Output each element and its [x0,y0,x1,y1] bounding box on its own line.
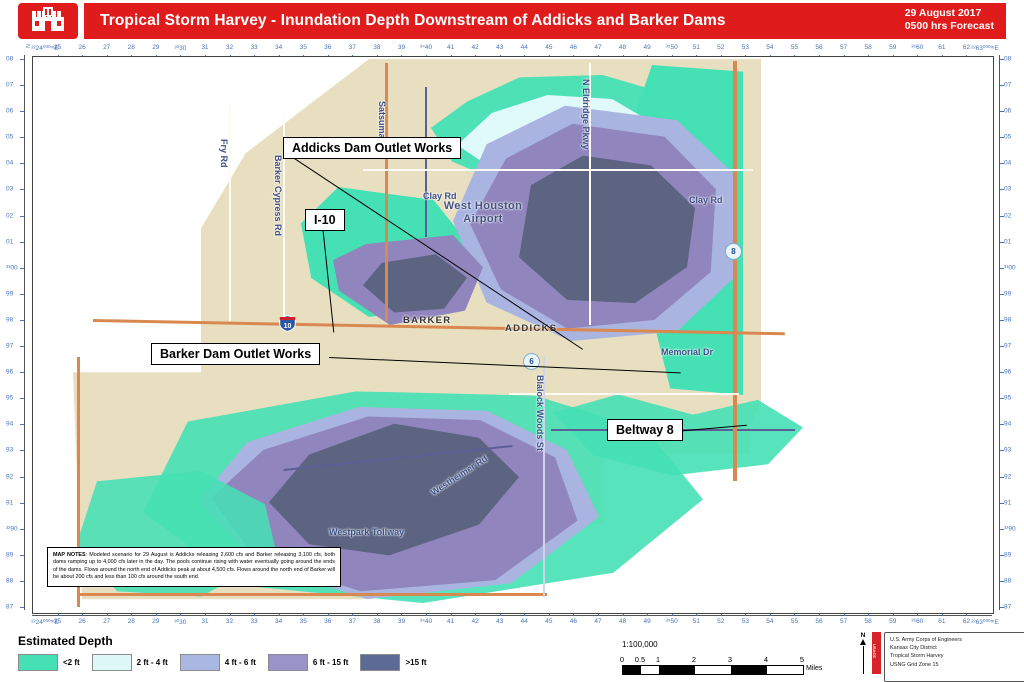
label-barker-cypress-rd: Barker Cypress Rd [273,155,283,236]
grid-tick-label: 58 [865,618,872,625]
grid-tick-mark [20,424,24,425]
grid-tick-label: 38 [373,618,380,625]
grid-tick-label: 27 [103,44,110,51]
grid-tick-label: 05 [1004,134,1011,141]
grid-tick-label: 56 [815,618,822,625]
grid-tick-label: 93 [1004,447,1011,454]
grid-tick-label: 07 [1004,82,1011,89]
grid-tick-label: ³²90 [6,525,18,532]
grid-tick-label: 51 [693,618,700,625]
north-arrow-label: N [861,632,866,639]
grid-tick-label: 33 [250,618,257,625]
grid-tick-mark [20,555,24,556]
grid-tick-mark [20,137,24,138]
usace-castle-logo [18,3,78,39]
scale-tick: 4 [764,655,768,664]
grid-tick-label: ³⁰30 [174,618,186,626]
grid-tick-label: 26 [79,618,86,625]
legend-swatch [360,654,400,671]
grid-tick-label: 46 [570,44,577,51]
grid-tick-label: 92 [6,473,13,480]
map-canvas[interactable]: Fry Rd Barker Cypress Rd Satsuma Rd N El… [33,57,993,613]
legend: <2 ft2 ft - 4 ft4 ft - 6 ft6 ft - 15 ft>… [18,654,439,671]
svg-text:10: 10 [284,323,292,330]
grid-tick-label: 41 [447,44,454,51]
grid-tick-label: ³⁵50 [666,44,678,51]
callout-barker-dam-outlet-works[interactable]: Barker Dam Outlet Works [151,343,320,365]
grid-tick-label: 36 [324,618,331,625]
grid-tick-mark [1000,268,1004,269]
callout-beltway8[interactable]: Beltway 8 [607,419,683,441]
grid-tick-label: 92 [1004,473,1011,480]
grid-tick-label: 28 [128,618,135,625]
legend-label: 4 ft - 6 ft [225,658,256,667]
grid-tick-label: 57 [840,44,847,51]
forecast-hour: 0500 hrs Forecast [905,20,994,33]
grid-tick-mark [1000,372,1004,373]
grid-tick-label: ²²63⁰⁰⁰ᵐE [971,618,998,626]
map-notes-heading: MAP NOTES [53,552,86,558]
grid-tick-mark [1000,477,1004,478]
legend-swatch [18,654,58,671]
grid-tick-label: 26 [79,44,86,51]
grid-tick-label: ³³00 [6,264,18,271]
grid-tick-mark [1000,189,1004,190]
road-beltway8 [733,61,737,481]
credit-agency: U.S. Army Corps of Engineers [890,636,1022,644]
grid-tick-label: 25 [54,618,61,625]
grid-tick-label: 34 [275,44,282,51]
grid-tick-label: 03 [1004,186,1011,193]
grid-tick-label: 44 [521,618,528,625]
legend-label: 2 ft - 4 ft [137,658,168,667]
grid-tick-label: 43 [496,44,503,51]
grid-tick-label: 96 [1004,369,1011,376]
grid-tick-label: 51 [693,44,700,51]
grid-tick-label: 45 [545,618,552,625]
grid-tick-label: 56 [815,44,822,51]
legend-item: 2 ft - 4 ft [92,654,168,671]
grid-ruler-left: 0807060504030201³³00999897969594939291³²… [0,55,26,615]
north-arrow-icon: N [856,632,870,674]
grid-tick-label: ³⁶60 [911,44,923,51]
grid-ruler-bottom: ²²24⁰⁰⁰ᵐE2526272829³⁰3031323334353637383… [0,612,1024,632]
grid-tick-label: 87 [6,604,13,611]
grid-tick-label: 45 [545,44,552,51]
grid-tick-label: 99 [1004,290,1011,297]
grid-tick-mark [1000,398,1004,399]
grid-tick-label: 25 [54,44,61,51]
grid-tick-label: 98 [6,316,13,323]
grid-corner-label-tl: N [24,44,30,48]
grid-tick-label: 98 [1004,316,1011,323]
grid-tick-label: 58 [865,44,872,51]
label-fry-rd: Fry Rd [219,139,229,168]
map-notes-box: MAP NOTES: Modeled scenario for 29 Augus… [47,547,341,587]
grid-tick-label: 62 [963,44,970,51]
grid-tick-label: 35 [300,44,307,51]
grid-tick-label: 53 [742,44,749,51]
grid-tick-label: 59 [889,618,896,625]
grid-tick-label: 32 [226,618,233,625]
scale-tick-labels: 00.512345 [622,655,822,665]
forecast-datetime: 29 August 2017 0500 hrs Forecast [905,7,994,33]
grid-tick-label: 88 [1004,577,1011,584]
grid-tick-mark [20,477,24,478]
grid-tick-label: 53 [742,618,749,625]
grid-tick-mark [1000,320,1004,321]
grid-tick-label: ³⁵50 [666,618,678,625]
grid-tick-label: 31 [201,618,208,625]
map-viewport[interactable]: Fry Rd Barker Cypress Rd Satsuma Rd N El… [32,56,994,614]
grid-tick-label: 39 [398,618,405,625]
shield-i10-icon: 10 [279,315,296,332]
grid-tick-label: 97 [6,343,13,350]
grid-tick-mark [1000,607,1004,608]
grid-tick-mark [1000,294,1004,295]
scale-ratio: 1:100,000 [622,640,822,649]
map-notes-body: : Modeled scenario for 29 August is Addi… [53,552,335,580]
grid-tick-label: 33 [250,44,257,51]
legend-item: <2 ft [18,654,80,671]
callout-i10[interactable]: I-10 [305,209,345,231]
grid-tick-mark [20,189,24,190]
grid-tick-label: ³³00 [1004,264,1016,271]
header-title-bar: Tropical Storm Harvey - Inundation Depth… [84,3,1006,39]
label-memorial-dr: Memorial Dr [661,347,713,357]
grid-tick-label: 96 [6,369,13,376]
usace-bar-text: USACE [872,632,877,658]
grid-tick-mark [20,450,24,451]
grid-tick-mark [1000,137,1004,138]
grid-tick-label: 46 [570,618,577,625]
scale-tick: 0 [620,655,624,664]
scale-tick: 2 [692,655,696,664]
grid-tick-label: 04 [1004,160,1011,167]
grid-tick-mark [1000,216,1004,217]
road-westpark-tollway [77,593,547,596]
grid-tick-label: 27 [103,618,110,625]
grid-tick-mark [20,320,24,321]
grid-tick-mark [1000,424,1004,425]
grid-tick-label: 54 [766,44,773,51]
grid-tick-label: 55 [791,618,798,625]
grid-tick-label: 02 [6,212,13,219]
grid-tick-label: ³⁶60 [911,618,923,625]
grid-tick-label: 62 [963,618,970,625]
grid-tick-label: 37 [349,44,356,51]
callout-addicks-dam-outlet-works[interactable]: Addicks Dam Outlet Works [283,137,461,159]
grid-tick-label: 93 [6,447,13,454]
shield-beltway8-icon: 8 [725,243,742,260]
page-header: Tropical Storm Harvey - Inundation Depth… [0,0,1024,40]
grid-tick-label: 34 [275,618,282,625]
grid-tick-label: 29 [152,44,159,51]
grid-tick-label: 36 [324,44,331,51]
grid-tick-label: 01 [1004,238,1011,245]
grid-tick-mark [1000,59,1004,60]
grid-tick-label: 03 [6,186,13,193]
grid-tick-label: 06 [6,108,13,115]
legend-title: Estimated Depth [18,634,113,648]
grid-tick-label: 29 [152,618,159,625]
grid-tick-mark [20,346,24,347]
grid-tick-mark [20,581,24,582]
grid-tick-mark [1000,346,1004,347]
legend-item: >15 ft [360,654,426,671]
label-barker-text: BARKER [403,315,451,326]
road-clay-rd [363,169,753,171]
grid-tick-label: 04 [6,160,13,167]
grid-tick-label: 89 [1004,551,1011,558]
grid-tick-mark [1000,555,1004,556]
scale-bar: Miles [622,665,804,675]
grid-tick-mark [20,372,24,373]
grid-tick-mark [20,529,24,530]
grid-tick-label: 32 [226,44,233,51]
grid-tick-label: 94 [6,421,13,428]
grid-tick-mark [20,59,24,60]
grid-tick-label: 61 [938,44,945,51]
grid-tick-label: 31 [201,44,208,51]
grid-tick-label: 61 [938,618,945,625]
grid-tick-label: 01 [6,238,13,245]
grid-tick-label: 55 [791,44,798,51]
grid-tick-mark [20,111,24,112]
grid-tick-label: 37 [349,618,356,625]
grid-tick-label: 48 [619,618,626,625]
grid-tick-label: 87 [1004,604,1011,611]
grid-tick-label: 57 [840,618,847,625]
legend-swatch [268,654,308,671]
grid-tick-label: 41 [447,618,454,625]
grid-tick-label: 39 [398,44,405,51]
label-n-eldridge-pkwy: N Eldridge Pkwy [581,79,591,150]
grid-tick-label: 59 [889,44,896,51]
grid-tick-label: 02 [1004,212,1011,219]
grid-tick-mark [20,607,24,608]
grid-tick-label: 97 [1004,343,1011,350]
grid-tick-label: 91 [6,499,13,506]
scale-bar-block: 1:100,000 00.512345 Miles [622,640,822,675]
grid-tick-mark [20,163,24,164]
grid-tick-label: 05 [6,134,13,141]
legend-label: >15 ft [405,658,426,667]
grid-tick-label: 08 [6,56,13,63]
scale-tick: 1 [656,655,660,664]
scale-tick: 0.5 [635,655,645,664]
grid-tick-label: 49 [643,618,650,625]
grid-tick-mark [20,398,24,399]
grid-tick-label: 91 [1004,499,1011,506]
grid-tick-mark [20,294,24,295]
grid-tick-label: 95 [6,395,13,402]
grid-tick-label: 42 [472,618,479,625]
grid-tick-mark [20,242,24,243]
label-blalock-woods-st: Blalock Woods St [535,375,545,451]
scale-tick: 3 [728,655,732,664]
grid-tick-label: 54 [766,618,773,625]
legend-item: 6 ft - 15 ft [268,654,349,671]
grid-tick-label: 49 [643,44,650,51]
grid-tick-label: ²²63⁰⁰⁰ᵐE [971,44,998,52]
grid-tick-label: 94 [1004,421,1011,428]
grid-tick-label: ³⁴40 [420,618,432,625]
grid-tick-label: 47 [594,618,601,625]
grid-tick-mark [1000,85,1004,86]
grid-tick-mark [20,216,24,217]
grid-tick-mark [1000,163,1004,164]
grid-tick-label: 07 [6,82,13,89]
grid-tick-label: 47 [594,44,601,51]
grid-tick-label: 48 [619,44,626,51]
grid-tick-label: 88 [6,577,13,584]
grid-tick-label: 43 [496,618,503,625]
grid-tick-mark [1000,581,1004,582]
grid-ruler-right: 0807060504030201³³00999897969594939291³²… [998,55,1024,615]
grid-tick-label: 52 [717,618,724,625]
credit-district: Kansas City District [890,644,1022,652]
grid-tick-mark [1000,503,1004,504]
grid-tick-mark [1000,111,1004,112]
scale-tick: 5 [800,655,804,664]
legend-swatch [92,654,132,671]
grid-tick-label: 38 [373,44,380,51]
grid-tick-label: ³²90 [1004,525,1016,532]
grid-tick-label: 06 [1004,108,1011,115]
forecast-date: 29 August 2017 [905,7,994,20]
credits-box: U.S. Army Corps of Engineers Kansas City… [884,632,1024,682]
grid-tick-label: 99 [6,290,13,297]
credit-grid-zone: USNG Grid Zone 15 [890,661,1022,669]
legend-label: <2 ft [63,658,80,667]
road-fry-rd [229,105,231,321]
legend-item: 4 ft - 6 ft [180,654,256,671]
page-title: Tropical Storm Harvey - Inundation Depth… [100,12,726,30]
grid-tick-mark [20,85,24,86]
grid-tick-mark [1000,242,1004,243]
grid-tick-mark [20,503,24,504]
scale-units: Miles [806,665,822,672]
grid-tick-label: ³⁰30 [174,44,186,52]
grid-tick-label: 95 [1004,395,1011,402]
credit-event: Tropical Storm Harvey [890,652,1022,660]
grid-tick-label: 89 [6,551,13,558]
grid-tick-label: ³⁴40 [420,44,432,51]
grid-tick-label: 08 [1004,56,1011,63]
label-west-houston-airport: West Houston Airport [423,200,543,226]
legend-label: 6 ft - 15 ft [313,658,349,667]
grid-tick-label: 52 [717,44,724,51]
grid-tick-label: 44 [521,44,528,51]
grid-tick-label: 28 [128,44,135,51]
grid-tick-label: 35 [300,618,307,625]
legend-swatch [180,654,220,671]
label-clay-rd-east: Clay Rd [689,195,723,205]
grid-tick-mark [1000,529,1004,530]
label-westpark-tollway: Westpark Tollway [329,527,404,537]
grid-tick-mark [20,268,24,269]
grid-tick-label: 42 [472,44,479,51]
usace-red-bar: USACE [872,632,881,674]
grid-tick-mark [1000,450,1004,451]
